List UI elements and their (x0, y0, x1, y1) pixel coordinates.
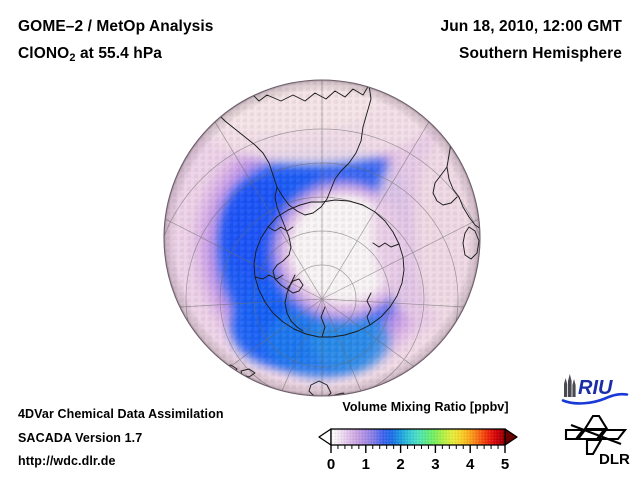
dlr-logo: DLR (563, 414, 631, 466)
colorbar-tick-4: 4 (466, 456, 475, 473)
colorbar-tick-2: 2 (396, 456, 404, 473)
colorbar-tick-5: 5 (501, 456, 509, 473)
riu-logo: RIU (559, 373, 631, 405)
colorbar-texture (331, 429, 505, 445)
species-label: ClONO (18, 45, 69, 62)
title-line-2: ClONO2 at 55.4 hPa (18, 40, 214, 69)
colorbar-title: Volume Mixing Ratio [ppbv] (318, 400, 533, 414)
figure-title: GOME–2 / MetOp Analysis ClONO2 at 55.4 h… (18, 13, 214, 69)
footer-line-2: SACADA Version 1.7 (18, 427, 224, 451)
pressure-level-label: at 55.4 hPa (76, 45, 163, 62)
colorbar-tick-1: 1 (362, 456, 370, 473)
colorbar-svg: 0 1 2 3 4 5 (318, 419, 533, 477)
colorbar-under-arrow (319, 429, 331, 445)
datetime-label: Jun 18, 2010, 12:00 GMT (441, 13, 623, 40)
polar-map (163, 79, 481, 397)
colorbar-tick-labels: 0 1 2 3 4 5 (327, 456, 509, 473)
dlr-logo-svg: DLR (563, 414, 631, 466)
colorbar-over-arrow (505, 429, 517, 445)
species-subscript: 2 (69, 52, 75, 64)
riu-tower-icon (564, 374, 576, 397)
footer-credits: 4DVar Chemical Data Assimilation SACADA … (18, 403, 224, 474)
riu-wordmark: RIU (578, 377, 613, 399)
title-line-1: GOME–2 / MetOp Analysis (18, 13, 214, 40)
footer-line-3[interactable]: http://wdc.dlr.de (18, 450, 224, 474)
dlr-wordmark: DLR (599, 451, 630, 466)
footer-line-1: 4DVar Chemical Data Assimilation (18, 403, 224, 427)
figure-meta: Jun 18, 2010, 12:00 GMT Southern Hemisph… (441, 13, 623, 67)
colorbar: Volume Mixing Ratio [ppbv] (318, 400, 533, 477)
colorbar-ticks (331, 445, 505, 453)
region-label: Southern Hemisphere (441, 40, 623, 67)
colorbar-tick-0: 0 (327, 456, 335, 473)
riu-logo-svg: RIU (559, 373, 631, 405)
dlr-mark-icon (566, 416, 625, 454)
globe-limb-shading (164, 80, 480, 396)
colorbar-tick-3: 3 (431, 456, 439, 473)
figure-canvas: GOME–2 / MetOp Analysis ClONO2 at 55.4 h… (0, 0, 640, 480)
globe-svg (163, 79, 481, 397)
